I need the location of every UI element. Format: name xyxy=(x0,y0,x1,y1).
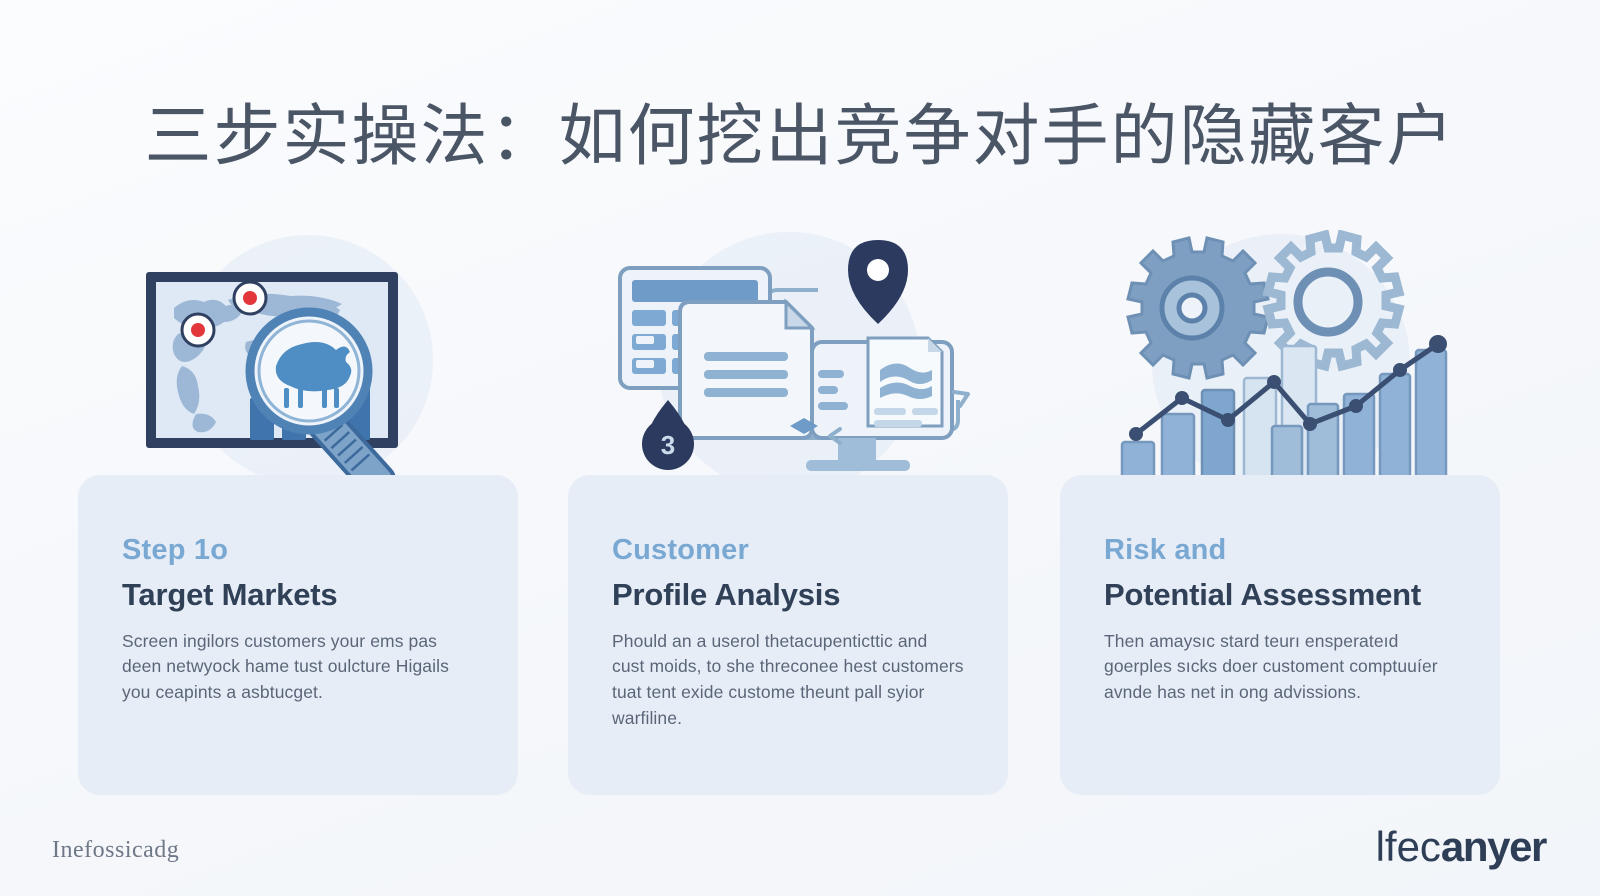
brand-logo: lfecanyer xyxy=(1376,826,1546,868)
page-title: 三步实操法：如何挖出竞争对手的隐藏客户 xyxy=(0,99,1600,174)
illustration-world-map-magnifier xyxy=(78,230,518,490)
step-badge-label: 3 xyxy=(661,430,675,460)
document-card xyxy=(680,302,812,438)
card-3[interactable]: Risk and Potential Assessment Then amays… xyxy=(1060,475,1500,795)
column-1: Step 1o Target Markets Screen ingilors c… xyxy=(78,230,518,810)
cards-row: Step 1o Target Markets Screen ingilors c… xyxy=(0,230,1600,810)
card-3-eyebrow: Risk and xyxy=(1104,535,1456,567)
gear-solid-icon xyxy=(1128,238,1268,378)
monitor xyxy=(806,338,952,471)
footer-source-label: Inefossicadg xyxy=(52,837,179,864)
card-2[interactable]: Customer Profile Analysis Phould an a us… xyxy=(568,475,1008,795)
map-pin-icon xyxy=(848,240,908,324)
illustration-gears-chart xyxy=(1060,230,1500,490)
card-1-eyebrow: Step 1o xyxy=(122,535,474,567)
card-1-body: Screen ingilors customers your ems pas d… xyxy=(122,629,474,707)
map-pin-marker xyxy=(234,282,266,314)
gears-bar-chart-trendline-icon xyxy=(1060,230,1500,492)
card-2-title: Profile Analysis xyxy=(612,577,964,613)
card-2-eyebrow: Customer xyxy=(612,535,964,567)
map-pin-marker xyxy=(182,314,214,346)
logo-light-part: lfec xyxy=(1376,823,1441,870)
card-1-title: Target Markets xyxy=(122,577,474,613)
report-document xyxy=(868,338,942,427)
card-2-body: Phould an a userol thetacupenticttic and… xyxy=(612,629,964,733)
column-2: 3 Customer Profile Analysis Phould an a … xyxy=(568,230,1008,810)
magnifier-lens xyxy=(250,312,368,430)
card-1[interactable]: Step 1o Target Markets Screen ingilors c… xyxy=(78,475,518,795)
illustration-documents-monitor-pin: 3 xyxy=(568,230,1008,490)
infographic-page: 三步实操法：如何挖出竞争对手的隐藏客户 xyxy=(0,0,1600,896)
documents-monitor-pin-icon: 3 xyxy=(568,230,1008,500)
logo-bold-part: anyer xyxy=(1441,823,1546,870)
card-3-body: Then amaysıc stard teurı ensperateıd goe… xyxy=(1104,629,1456,707)
world-map-magnifier-chart-icon xyxy=(78,230,518,490)
column-3: Risk and Potential Assessment Then amays… xyxy=(1060,230,1500,810)
card-3-title: Potential Assessment xyxy=(1104,577,1456,613)
